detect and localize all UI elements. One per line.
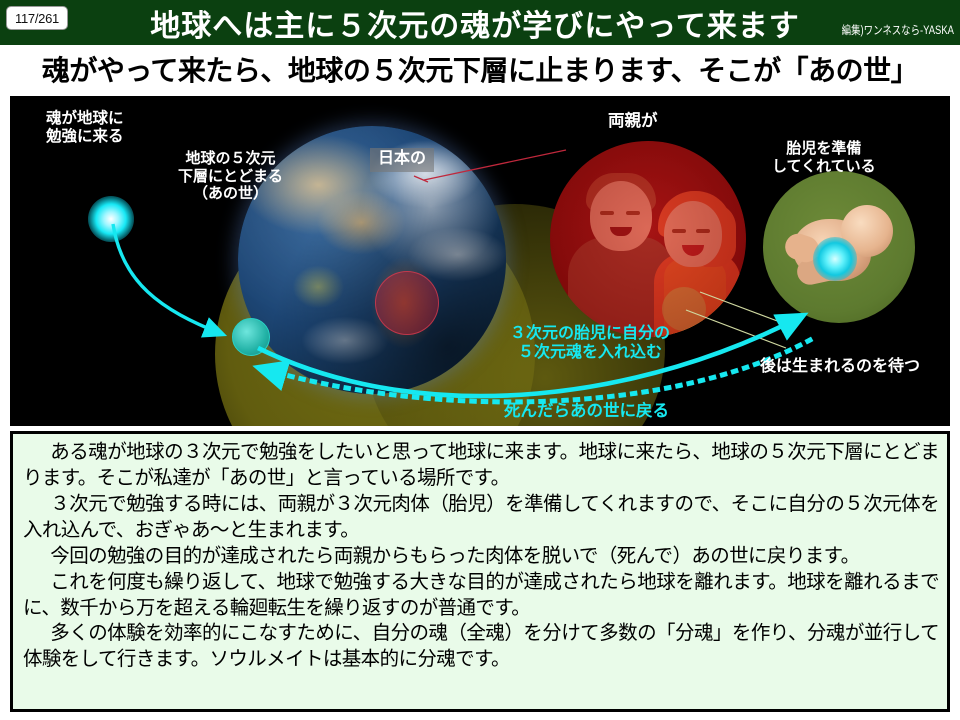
- japan-to-parents-line: [424, 150, 566, 180]
- paragraph-1: ある魂が地球の３次元で勉強をしたいと思って地球に来ます。地球に来たら、地球の５次…: [23, 440, 939, 492]
- label-soul-insertion-line1: ３次元の胎児に自分の: [510, 324, 670, 343]
- explanation-text-panel: ある魂が地球の３次元で勉強をしたいと思って地球に来ます。地球に来たら、地球の５次…: [10, 431, 950, 712]
- label-soul-comes-line2: 勉強に来る: [46, 128, 124, 146]
- page-number-badge: 117/261: [6, 6, 68, 30]
- page-title: 地球へは主に５次元の魂が学びにやって来ます: [0, 0, 960, 45]
- label-fetus-prepared-line1: 胎児を準備: [772, 140, 876, 158]
- slide-header: 地球へは主に５次元の魂が学びにやって来ます 117/261 編集)ワンネスなら-…: [0, 0, 960, 45]
- label-japan: 日本の: [370, 148, 434, 172]
- label-wait-to-be-born: 後は生まれるのを待つ: [760, 358, 920, 377]
- attribution-label: 編集)ワンネスなら-YASKA: [842, 22, 954, 38]
- label-afterlife-line1: 地球の５次元: [178, 150, 283, 168]
- label-fetus-prepared: 胎児を準備 してくれている: [772, 140, 876, 175]
- label-soul-insertion-line2: ５次元魂を入れ込む: [510, 343, 670, 362]
- slide-root: 地球へは主に５次元の魂が学びにやって来ます 117/261 編集)ワンネスなら-…: [0, 0, 960, 720]
- paragraph-2: ３次元で勉強する時には、両親が３次元肉体（胎児）を準備してくれますので、そこに自…: [23, 492, 939, 544]
- label-fetus-prepared-line2: してくれている: [772, 158, 876, 176]
- paragraph-5: 多くの体験を効率的にこなすために、自分の魂（全魂）を分けて多数の「分魂」を作り、…: [23, 621, 939, 673]
- paragraph-4: これを何度も繰り返して、地球で勉強する大きな目的が達成されたら地球を離れます。地…: [23, 570, 939, 622]
- label-parents: 両親が: [608, 112, 658, 131]
- label-soul-comes: 魂が地球に 勉強に来る: [46, 110, 124, 147]
- label-return-after-death: 死んだらあの世に戻る: [504, 402, 669, 422]
- subtitle: 魂がやって来たら、地球の５次元下層に止まります、そこが「あの世」: [0, 45, 960, 93]
- parents-to-fetus-line-top: [700, 292, 796, 328]
- label-soul-insertion: ３次元の胎児に自分の ５次元魂を入れ込む: [510, 324, 670, 362]
- label-soul-comes-line1: 魂が地球に: [46, 110, 124, 128]
- label-afterlife-line2: 下層にとどまる: [178, 168, 283, 186]
- paragraph-3: 今回の勉強の目的が達成されたら両親からもらった肉体を脱いで（死んで）あの世に戻り…: [23, 544, 939, 570]
- soul-arrival-arrow: [113, 224, 222, 334]
- label-afterlife-layer: 地球の５次元 下層にとどまる （あの世）: [178, 150, 283, 203]
- diagram-stage: 魂が地球に 勉強に来る 地球の５次元 下層にとどまる （あの世） 日本の 両親が…: [10, 96, 950, 426]
- label-afterlife-line3: （あの世）: [178, 185, 283, 203]
